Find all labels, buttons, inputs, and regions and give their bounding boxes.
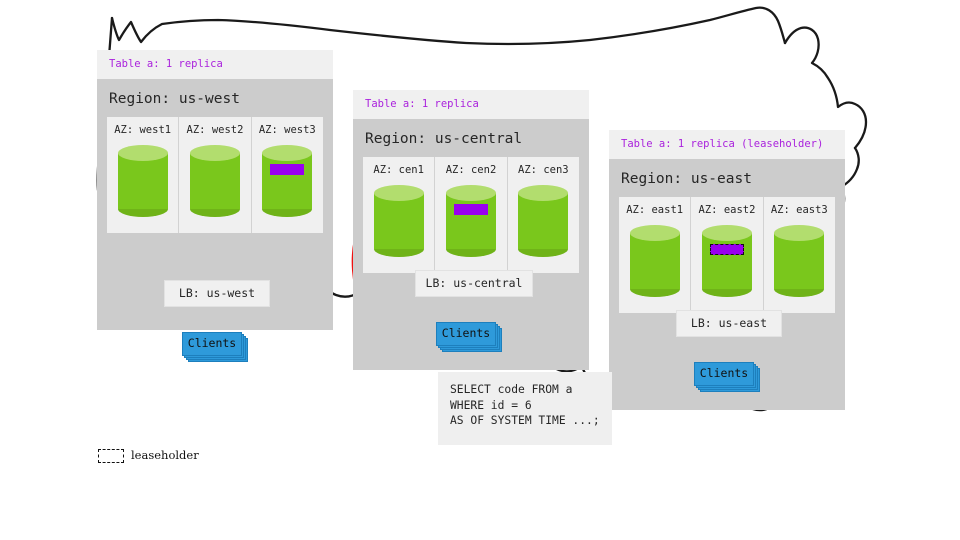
region-header-label-us-west: Table a: 1 replica	[97, 50, 333, 79]
az-label-east3: AZ: east3	[771, 205, 828, 216]
region-panel-us-west: Table a: 1 replica Region: us-west AZ: w…	[97, 50, 333, 330]
az-box-west1[interactable]: AZ: west1	[107, 117, 179, 233]
load-balancer-us-central[interactable]: LB: us-central	[415, 270, 533, 297]
region-title-us-west: Region: us-west	[97, 79, 333, 118]
cylinder-cen2	[446, 185, 496, 257]
az-row-us-east: AZ: east1 AZ: east2 AZ: east3	[619, 197, 835, 313]
az-box-cen2[interactable]: AZ: cen2	[435, 157, 507, 273]
load-balancer-us-west[interactable]: LB: us-west	[164, 280, 270, 307]
cylinder-west1	[118, 145, 168, 217]
legend-label: leaseholder	[131, 450, 199, 462]
az-box-east3[interactable]: AZ: east3	[764, 197, 835, 313]
clients-label-us-east: Clients	[694, 362, 754, 386]
replica-marker-west3	[270, 164, 304, 175]
cylinder-cen1	[374, 185, 424, 257]
cylinder-east3	[774, 225, 824, 297]
az-box-east2[interactable]: AZ: east2	[691, 197, 763, 313]
az-box-cen3[interactable]: AZ: cen3	[508, 157, 579, 273]
az-label-east2: AZ: east2	[699, 205, 756, 216]
az-box-west2[interactable]: AZ: west2	[179, 117, 251, 233]
region-header-label-us-central: Table a: 1 replica	[353, 90, 589, 119]
region-title-us-central: Region: us-central	[353, 119, 589, 158]
sql-query-box: SELECT code FROM a WHERE id = 6 AS OF SY…	[438, 372, 612, 445]
cylinder-west3	[262, 145, 312, 217]
region-panel-us-central: Table a: 1 replica Region: us-central AZ…	[353, 90, 589, 370]
az-label-west1: AZ: west1	[114, 125, 171, 136]
az-label-west3: AZ: west3	[259, 125, 316, 136]
az-label-cen1: AZ: cen1	[373, 165, 424, 176]
cylinder-west2	[190, 145, 240, 217]
region-title-us-east: Region: us-east	[609, 159, 845, 198]
az-label-cen2: AZ: cen2	[446, 165, 497, 176]
cylinder-east1	[630, 225, 680, 297]
clients-label-us-central: Clients	[436, 322, 496, 346]
az-row-us-central: AZ: cen1 AZ: cen2 AZ: cen3	[363, 157, 579, 273]
clients-label-us-west: Clients	[182, 332, 242, 356]
replica-marker-cen2	[454, 204, 488, 215]
az-box-west3[interactable]: AZ: west3	[252, 117, 323, 233]
region-panel-us-east: Table a: 1 replica (leaseholder) Region:…	[609, 130, 845, 410]
diagram-canvas: 1 2 3 4 5 Table a: 1 replica Region: us-…	[0, 0, 960, 540]
clients-stack-us-central[interactable]: Clients	[436, 322, 506, 352]
az-label-west2: AZ: west2	[187, 125, 244, 136]
az-box-east1[interactable]: AZ: east1	[619, 197, 691, 313]
clients-stack-us-west[interactable]: Clients	[182, 332, 248, 362]
cylinder-cen3	[518, 185, 568, 257]
dashed-rectangle-icon	[98, 449, 124, 463]
load-balancer-us-east[interactable]: LB: us-east	[676, 310, 782, 337]
az-label-east1: AZ: east1	[626, 205, 683, 216]
az-box-cen1[interactable]: AZ: cen1	[363, 157, 435, 273]
legend-leaseholder: leaseholder	[98, 449, 199, 463]
region-header-label-us-east: Table a: 1 replica (leaseholder)	[609, 130, 845, 159]
clients-stack-us-east[interactable]: Clients	[694, 362, 764, 392]
az-row-us-west: AZ: west1 AZ: west2 AZ: west3	[107, 117, 323, 233]
replica-marker-east2-leaseholder	[710, 244, 744, 255]
az-label-cen3: AZ: cen3	[518, 165, 569, 176]
cylinder-east2	[702, 225, 752, 297]
